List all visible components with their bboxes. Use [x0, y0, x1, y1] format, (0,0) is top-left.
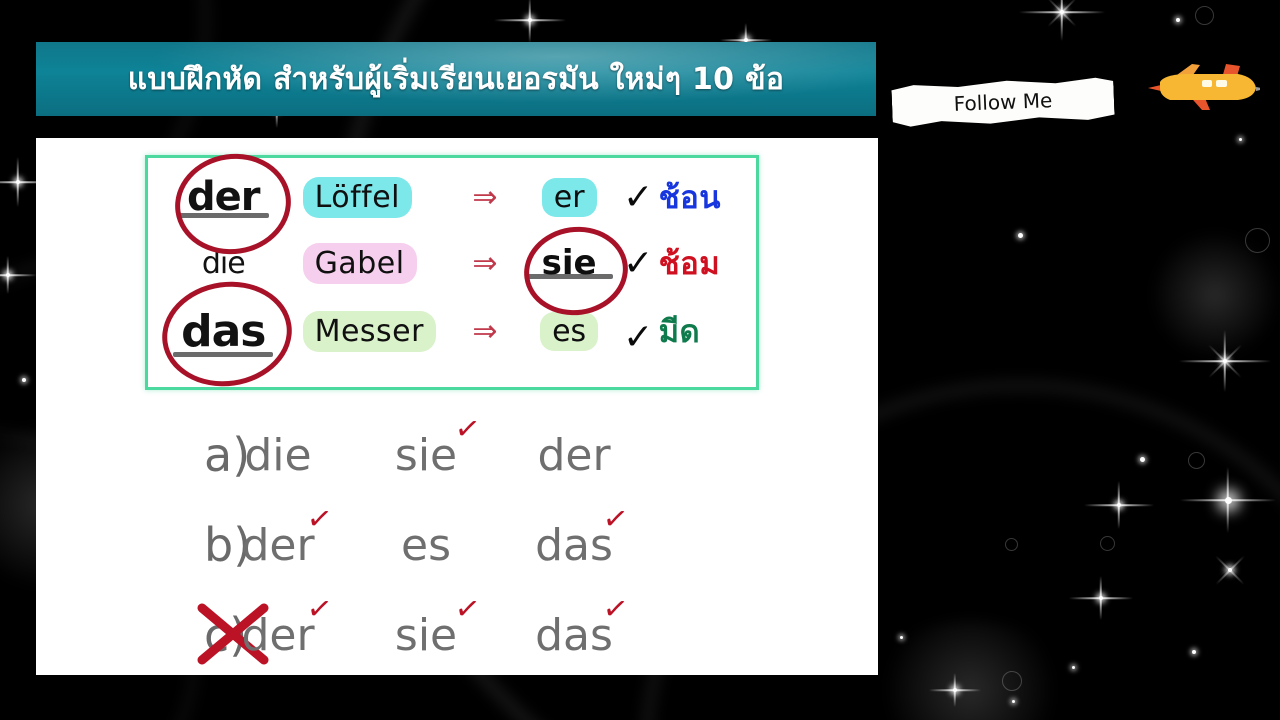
red-check-icon: ✓	[601, 500, 631, 538]
star-ring	[1005, 538, 1018, 551]
answer-option[interactable]: der ✓	[204, 610, 352, 661]
pronoun-word: es	[540, 312, 598, 351]
answer-option[interactable]: der	[500, 430, 648, 481]
star-dot	[22, 378, 26, 382]
noun-cell: Gabel	[299, 243, 450, 284]
red-check-icon: ✓	[305, 590, 335, 628]
pronoun-cell: sie	[520, 241, 617, 285]
check-icon: ✓	[623, 317, 653, 358]
answer-label: c)	[46, 608, 204, 662]
arrow-cell: ⇒	[450, 180, 521, 215]
star-dot	[1192, 650, 1196, 654]
check-cell: ✓	[618, 243, 659, 284]
answer-option-word: der	[537, 430, 610, 481]
answer-label: b)	[46, 518, 204, 572]
answer-option[interactable]: es	[352, 520, 500, 571]
arrow-cell: ⇒	[450, 314, 521, 349]
thai-translation: มีด	[659, 306, 701, 356]
star-dot	[1018, 233, 1023, 238]
star-dot	[1072, 666, 1075, 669]
airplane-icon	[1130, 58, 1260, 120]
table-row: das Messer ⇒ es ✓ มีด	[148, 298, 756, 364]
answer-option[interactable]: der ✓	[204, 520, 352, 571]
answer-row[interactable]: a) die sie ✓ der	[46, 410, 888, 500]
noun-word: Löffel	[303, 177, 412, 218]
answer-row[interactable]: b) der ✓ es das ✓	[46, 500, 888, 590]
noun-cell: Löffel	[299, 177, 450, 218]
star-dot	[1176, 18, 1180, 22]
article-cell: die	[148, 246, 299, 281]
pronoun-word: er	[542, 178, 597, 217]
pronoun-cell: er	[520, 178, 617, 217]
red-check-icon: ✓	[453, 590, 483, 628]
star-ring	[1002, 671, 1022, 691]
red-check-icon: ✓	[601, 590, 631, 628]
page-title: แบบฝึกหัด สำหรับผู้เริ่มเรียนเยอรมัน ใหม…	[128, 56, 784, 103]
worksheet-panel: der Löffel ⇒ er ✓ ช้อน	[36, 138, 878, 675]
arrow-cell: ⇒	[450, 246, 521, 281]
answer-option[interactable]: das ✓	[500, 610, 648, 661]
table-row: der Löffel ⇒ er ✓ ช้อน	[148, 164, 756, 230]
pronoun-word: sie	[530, 241, 609, 285]
answer-list: a) die sie ✓ der b) der ✓	[46, 410, 888, 680]
article-cell: das	[148, 306, 299, 357]
star-dot	[1239, 138, 1242, 141]
answer-label: a)	[46, 428, 204, 482]
check-icon: ✓	[623, 177, 653, 218]
title-banner: แบบฝึกหัด สำหรับผู้เริ่มเรียนเยอรมัน ใหม…	[36, 42, 876, 116]
vocab-table: der Löffel ⇒ er ✓ ช้อน	[145, 155, 759, 390]
red-check-icon: ✓	[305, 500, 335, 538]
answer-row[interactable]: c) der ✓ sie ✓ das ✓	[46, 590, 888, 680]
check-icon: ✓	[623, 243, 653, 284]
thai-translation: ช้อน	[659, 172, 721, 222]
answer-option[interactable]: sie ✓	[352, 610, 500, 661]
article-word: der	[187, 174, 260, 220]
noun-word: Gabel	[303, 243, 417, 284]
arrow-icon: ⇒	[472, 180, 497, 215]
answer-option-word: die	[244, 430, 311, 481]
star-ring	[1245, 228, 1270, 253]
answer-option-word: der	[241, 610, 314, 661]
red-check-icon: ✓	[453, 410, 483, 448]
star-dot	[1140, 457, 1145, 462]
noun-word: Messer	[303, 311, 436, 352]
article-word: die	[202, 246, 245, 281]
answer-option-word: es	[401, 520, 451, 571]
answer-option[interactable]: die	[204, 430, 352, 481]
screenshot-stage: แบบฝึกหัด สำหรับผู้เริ่มเรียนเยอรมัน ใหม…	[0, 0, 1280, 720]
arrow-icon: ⇒	[472, 314, 497, 349]
noun-cell: Messer	[299, 311, 450, 352]
answer-option-word: sie	[395, 610, 457, 661]
answer-option[interactable]: sie ✓	[352, 430, 500, 481]
thai-cell: ช้อน	[659, 172, 756, 222]
thai-cell: ช้อม	[659, 238, 756, 288]
check-cell: ✓	[618, 177, 659, 218]
star-ring	[1100, 536, 1115, 551]
thai-translation: ช้อม	[659, 238, 721, 288]
star-dot	[900, 636, 903, 639]
answer-option[interactable]: das ✓	[500, 520, 648, 571]
star-dot	[1012, 700, 1015, 703]
table-row: die Gabel ⇒ sie ✓ ช้อม	[148, 230, 756, 296]
star-ring	[1195, 6, 1214, 25]
check-cell: ✓	[618, 305, 659, 358]
pronoun-cell: es	[520, 312, 617, 351]
star-ring	[1188, 452, 1205, 469]
thai-cell: มีด	[659, 306, 756, 356]
article-cell: der	[148, 174, 299, 220]
answer-option-word: der	[241, 520, 314, 571]
follow-me-label: Follow Me	[953, 88, 1053, 116]
article-word: das	[181, 306, 265, 357]
arrow-icon: ⇒	[472, 246, 497, 281]
answer-option-word: sie	[395, 430, 457, 481]
